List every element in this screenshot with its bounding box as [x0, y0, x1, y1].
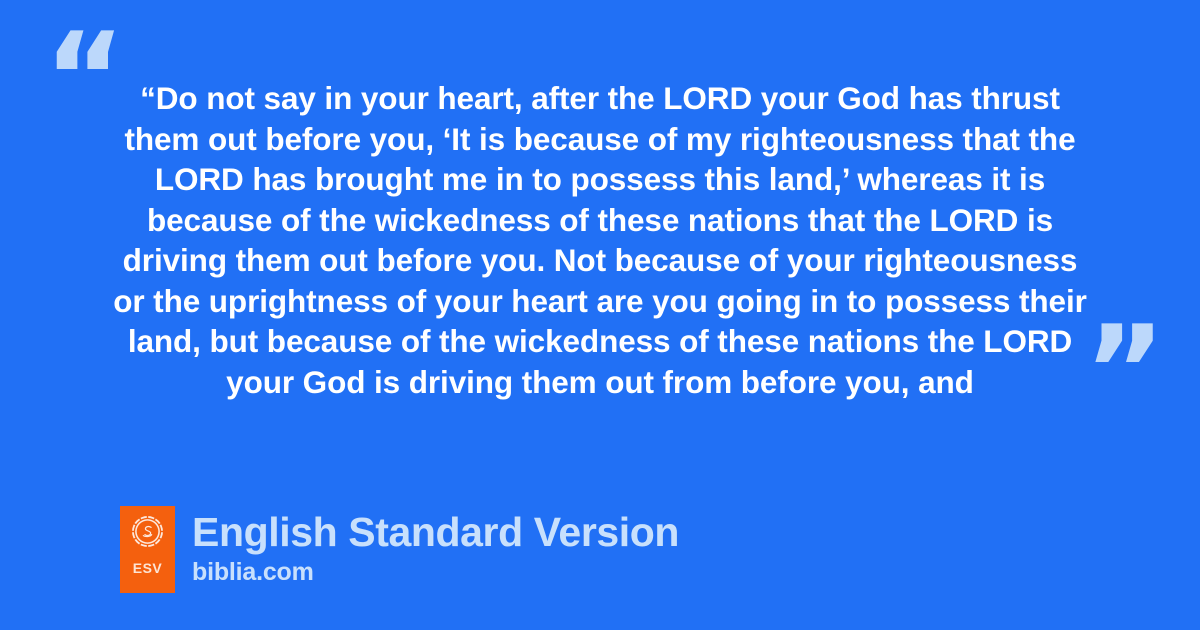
verse-image-canvas: { "theme": { "background_color": "#2170F… — [0, 0, 1200, 630]
quote-text: “Do not say in your heart, after the LOR… — [112, 78, 1088, 402]
esv-badge: ESV — [120, 506, 175, 593]
quote-card: “ “Do not say in your heart, after the L… — [0, 0, 1200, 440]
close-quote-icon: ” — [1084, 310, 1166, 434]
source-site-name: biblia.com — [192, 557, 679, 587]
esv-badge-label: ESV — [133, 561, 163, 575]
attribution-text: English Standard Version biblia.com — [192, 506, 679, 587]
attribution: ESV English Standard Version biblia.com — [120, 506, 679, 593]
bible-version-name: English Standard Version — [192, 509, 679, 555]
esv-seal-icon — [131, 515, 164, 548]
